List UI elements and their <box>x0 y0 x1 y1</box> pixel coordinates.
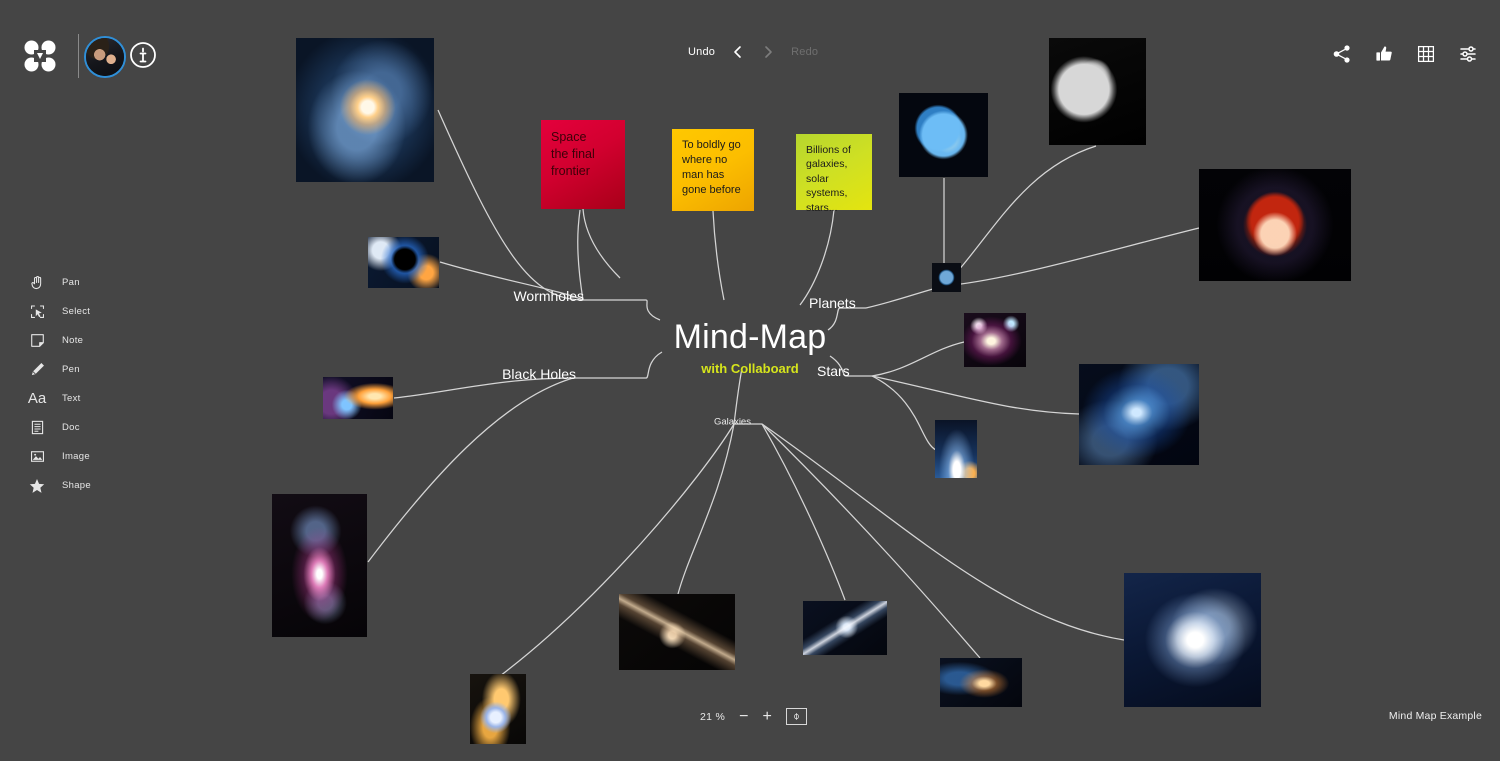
grid-icon[interactable] <box>1416 44 1436 64</box>
tool-label: Pan <box>62 277 80 288</box>
note-space-frontier[interactable]: Space the final frontier <box>541 120 625 209</box>
image-black-hole-vortex[interactable] <box>368 237 439 288</box>
branch-label-text: Wormholes <box>513 288 584 304</box>
chevron-left-icon[interactable] <box>731 45 745 59</box>
image-small-nebula[interactable] <box>940 658 1022 707</box>
document-icon <box>26 417 48 439</box>
image-white-spiral-galaxy[interactable] <box>1124 573 1261 707</box>
chevron-right-icon[interactable] <box>761 45 775 59</box>
undo-redo-controls: Undo Redo <box>688 45 818 59</box>
tool-doc[interactable]: Doc <box>26 413 91 442</box>
zoom-out-button[interactable]: − <box>739 709 748 725</box>
text-icon: Aa <box>26 388 48 410</box>
tool-select[interactable]: Select <box>26 297 91 326</box>
image-milky-way-band[interactable] <box>619 594 735 670</box>
tool-label: Doc <box>62 422 80 433</box>
image-earth-thumbnail[interactable] <box>932 263 961 292</box>
mindmap-connectors <box>0 0 1500 761</box>
tool-text[interactable]: Aa Text <box>26 384 91 413</box>
note-billions-of-galaxies[interactable]: Billions of galaxies, solar systems, sta… <box>796 134 872 210</box>
hand-icon <box>26 272 48 294</box>
collaboard-logo-icon[interactable] <box>22 38 58 74</box>
image-gold-spiral-galaxy[interactable] <box>470 674 526 744</box>
select-cursor-icon <box>26 301 48 323</box>
tool-shape[interactable]: Shape <box>26 471 91 500</box>
image-blue-nebula-large[interactable] <box>1079 364 1199 465</box>
image-star-cluster-strip[interactable] <box>935 420 977 478</box>
image-orion-nebula-pink[interactable] <box>272 494 367 637</box>
branch-label-planets[interactable]: Planets <box>809 295 856 311</box>
zoom-in-button[interactable]: + <box>762 709 771 725</box>
header-divider <box>78 34 79 78</box>
image-lunar-eclipse-red[interactable] <box>1199 169 1351 281</box>
board-name-label: Mind Map Example <box>1389 710 1482 722</box>
tool-label: Image <box>62 451 90 462</box>
tool-note[interactable]: Note <box>26 326 91 355</box>
zoom-controls: 21 % − + <box>700 708 807 725</box>
page-title: Mind-Map <box>674 320 827 354</box>
mindmap-center-title[interactable]: Mind-Map with Collaboard <box>674 320 827 376</box>
branch-label-text: Planets <box>809 295 856 311</box>
tool-label: Select <box>62 306 90 317</box>
branch-label-galaxies[interactable]: Galaxies <box>714 417 751 428</box>
redo-label[interactable]: Redo <box>791 46 818 58</box>
tool-label: Shape <box>62 480 91 491</box>
undo-label[interactable]: Undo <box>688 46 715 58</box>
image-icon <box>26 446 48 468</box>
image-andromeda-galaxy[interactable] <box>803 601 887 655</box>
board-canvas[interactable]: Space the final frontier To boldly go wh… <box>0 0 1500 761</box>
branch-label-text: Black Holes <box>502 366 576 382</box>
share-icon[interactable] <box>1332 44 1352 64</box>
image-accretion-disk[interactable] <box>323 377 393 419</box>
avatar[interactable] <box>84 36 126 78</box>
page-subtitle: with Collaboard <box>674 361 827 376</box>
top-right-actions <box>1332 44 1478 64</box>
info-icon[interactable] <box>129 41 157 69</box>
star-shape-icon <box>26 475 48 497</box>
zoom-level: 21 % <box>700 711 725 723</box>
sliders-icon[interactable] <box>1458 44 1478 64</box>
sticky-note-icon <box>26 330 48 352</box>
tool-pen[interactable]: Pen <box>26 355 91 384</box>
branch-label-wormholes[interactable]: Wormholes <box>513 288 584 304</box>
image-magenta-nebula[interactable] <box>964 313 1026 367</box>
left-toolbar: Pan Select Note Pen Aa <box>26 268 91 500</box>
thumbs-up-icon[interactable] <box>1374 44 1394 64</box>
note-text: Billions of galaxies, solar systems, sta… <box>806 144 851 214</box>
tool-label: Pen <box>62 364 80 375</box>
branch-label-black-holes[interactable]: Black Holes <box>502 366 576 382</box>
note-text: Space the final frontier <box>551 130 595 178</box>
pen-icon <box>26 359 48 381</box>
text-icon-glyph: Aa <box>28 390 46 407</box>
tool-image[interactable]: Image <box>26 442 91 471</box>
branch-label-text: Galaxies <box>714 417 751 428</box>
top-bar: Undo Redo <box>0 0 1500 110</box>
note-text: To boldly go where no man has gone befor… <box>682 139 741 196</box>
tool-label: Note <box>62 335 83 346</box>
tool-label: Text <box>62 393 81 404</box>
tool-pan[interactable]: Pan <box>26 268 91 297</box>
fit-to-screen-button[interactable] <box>786 708 807 725</box>
note-to-boldly-go[interactable]: To boldly go where no man has gone befor… <box>672 129 754 211</box>
